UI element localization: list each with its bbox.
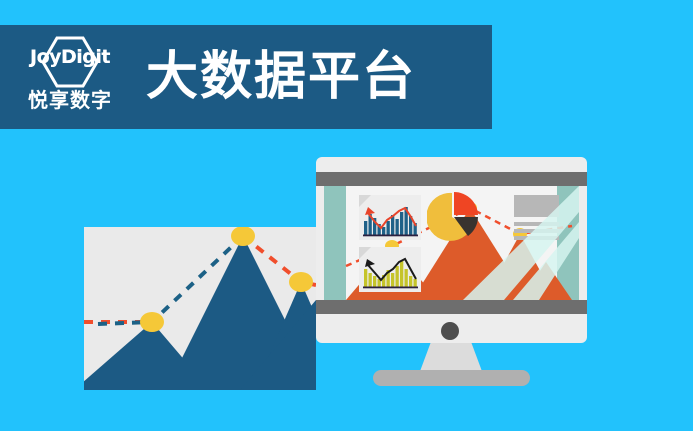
bar-chart-card-blue[interactable]	[359, 195, 421, 240]
header-banner: JoyDigit 悦享数字 大数据平台	[0, 25, 492, 129]
pie-chart[interactable]	[427, 192, 479, 244]
placeholder-line	[514, 229, 559, 233]
mountain-trend-chart	[84, 227, 316, 390]
text-placeholder-block	[514, 195, 559, 237]
bar-chart-olive	[359, 247, 421, 292]
power-button[interactable]	[441, 322, 459, 340]
bar-chart-card-olive[interactable]	[359, 247, 421, 292]
brand-logo: JoyDigit 悦享数字	[16, 34, 124, 120]
data-marker[interactable]	[231, 227, 255, 246]
monitor-bottom-bezel	[316, 300, 587, 314]
poster-canvas: JoyDigit 悦享数字 大数据平台	[0, 0, 693, 431]
data-marker[interactable]	[289, 272, 313, 292]
monitor-stand-base	[373, 370, 530, 386]
monitor-screen	[324, 186, 579, 300]
placeholder-line	[514, 222, 559, 226]
desktop-monitor	[316, 157, 587, 343]
placeholder-line	[514, 236, 559, 240]
mountain-trend-panel	[84, 227, 316, 390]
placeholder-heading	[514, 195, 559, 217]
page-title: 大数据平台	[146, 51, 416, 103]
pie-slice-b[interactable]	[454, 192, 478, 215]
logo-subtitle: 悦享数字	[16, 90, 124, 110]
logo-wordmark: JoyDigit	[16, 48, 124, 67]
data-marker[interactable]	[140, 312, 164, 332]
bar-chart-blue	[359, 195, 421, 240]
monitor-top-bezel	[316, 172, 587, 186]
